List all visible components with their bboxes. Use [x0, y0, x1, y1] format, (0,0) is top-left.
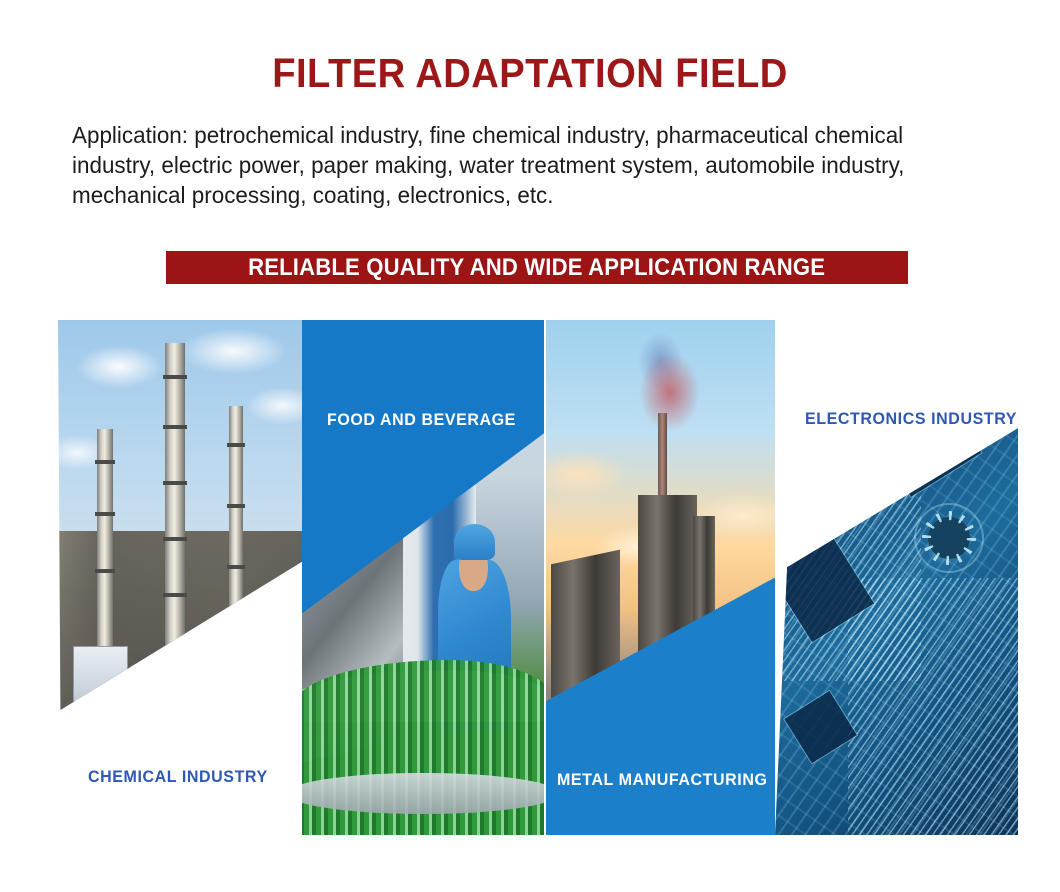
column-band [163, 375, 187, 379]
column-band [227, 565, 246, 569]
refinery-column-right [229, 406, 244, 640]
panel-label-food-and-beverage: FOOD AND BEVERAGE [327, 411, 516, 430]
column-band [95, 569, 115, 573]
panel-label-electronics-industry: ELECTRONICS INDUSTRY [805, 410, 1017, 429]
refinery-column-center [165, 343, 185, 655]
column-band [95, 460, 115, 464]
refinery-column-left [97, 429, 113, 647]
panel-label-chemical-industry: CHEMICAL INDUSTRY [88, 768, 268, 787]
pcb-rotary-component [916, 505, 982, 571]
column-band [163, 593, 187, 597]
column-band [227, 443, 246, 447]
photo-circuit-board [775, 320, 1018, 835]
panel-electronics-industry[interactable] [775, 320, 1018, 835]
industry-collage: CHEMICAL INDUSTRY FOOD AND BEVERAGE META… [0, 0, 1060, 892]
column-band [163, 537, 187, 541]
conveyor-rail [302, 773, 544, 814]
photo-chemical-refinery [58, 320, 302, 710]
panel-food-and-beverage[interactable] [302, 320, 544, 835]
column-band [95, 512, 115, 516]
refinery-building [73, 646, 129, 703]
panel-chemical-industry[interactable] [58, 320, 302, 710]
panel-metal-manufacturing[interactable] [546, 320, 775, 835]
column-band [163, 425, 187, 429]
panel-label-metal-manufacturing: METAL MANUFACTURING [557, 771, 768, 790]
column-band [227, 504, 246, 508]
column-band [163, 481, 187, 485]
worker-cap [454, 524, 496, 560]
pcb-traces [848, 578, 1018, 836]
pcb-chip [785, 691, 858, 763]
